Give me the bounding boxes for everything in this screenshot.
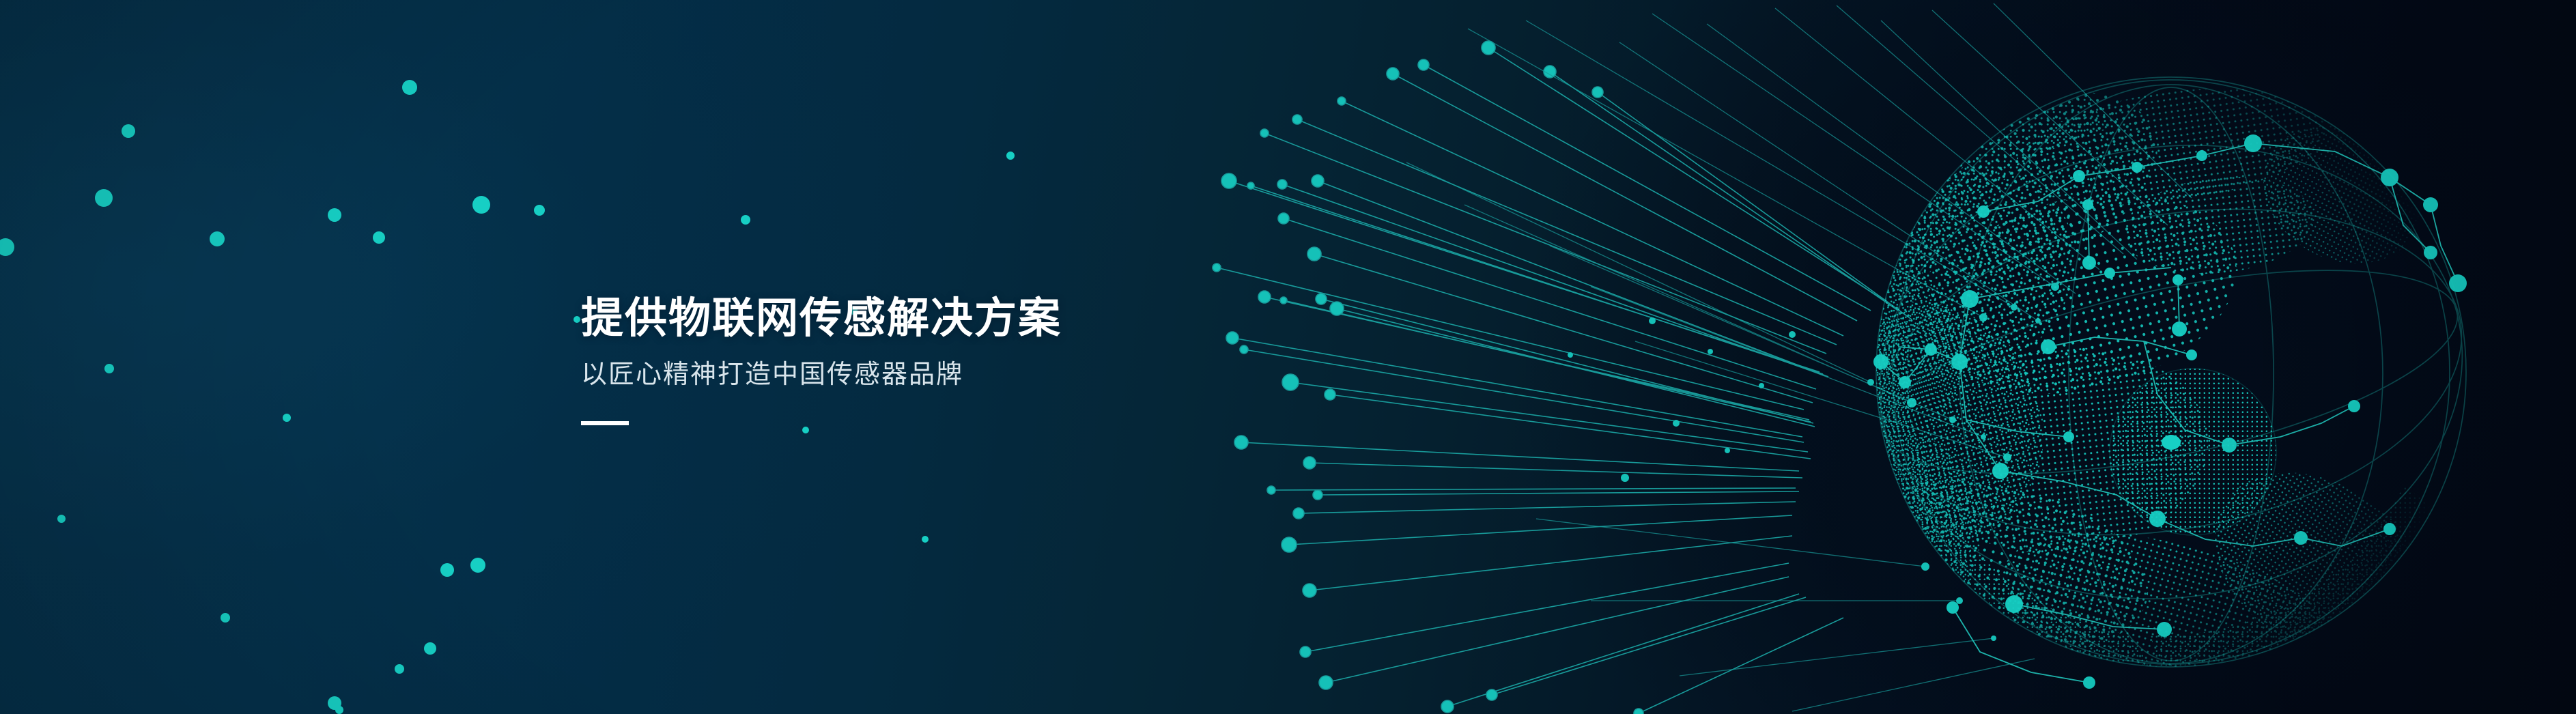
background-vignette bbox=[0, 0, 2576, 714]
hero-text-block: 提供物联网传感解决方案 以匠心精神打造中国传感器品牌 bbox=[581, 295, 1062, 425]
page-title: 提供物联网传感解决方案 bbox=[581, 295, 1062, 342]
page-subtitle: 以匠心精神打造中国传感器品牌 bbox=[581, 360, 1062, 391]
hero-banner: 提供物联网传感解决方案 以匠心精神打造中国传感器品牌 bbox=[0, 0, 2576, 714]
title-accent-rule bbox=[581, 421, 629, 425]
